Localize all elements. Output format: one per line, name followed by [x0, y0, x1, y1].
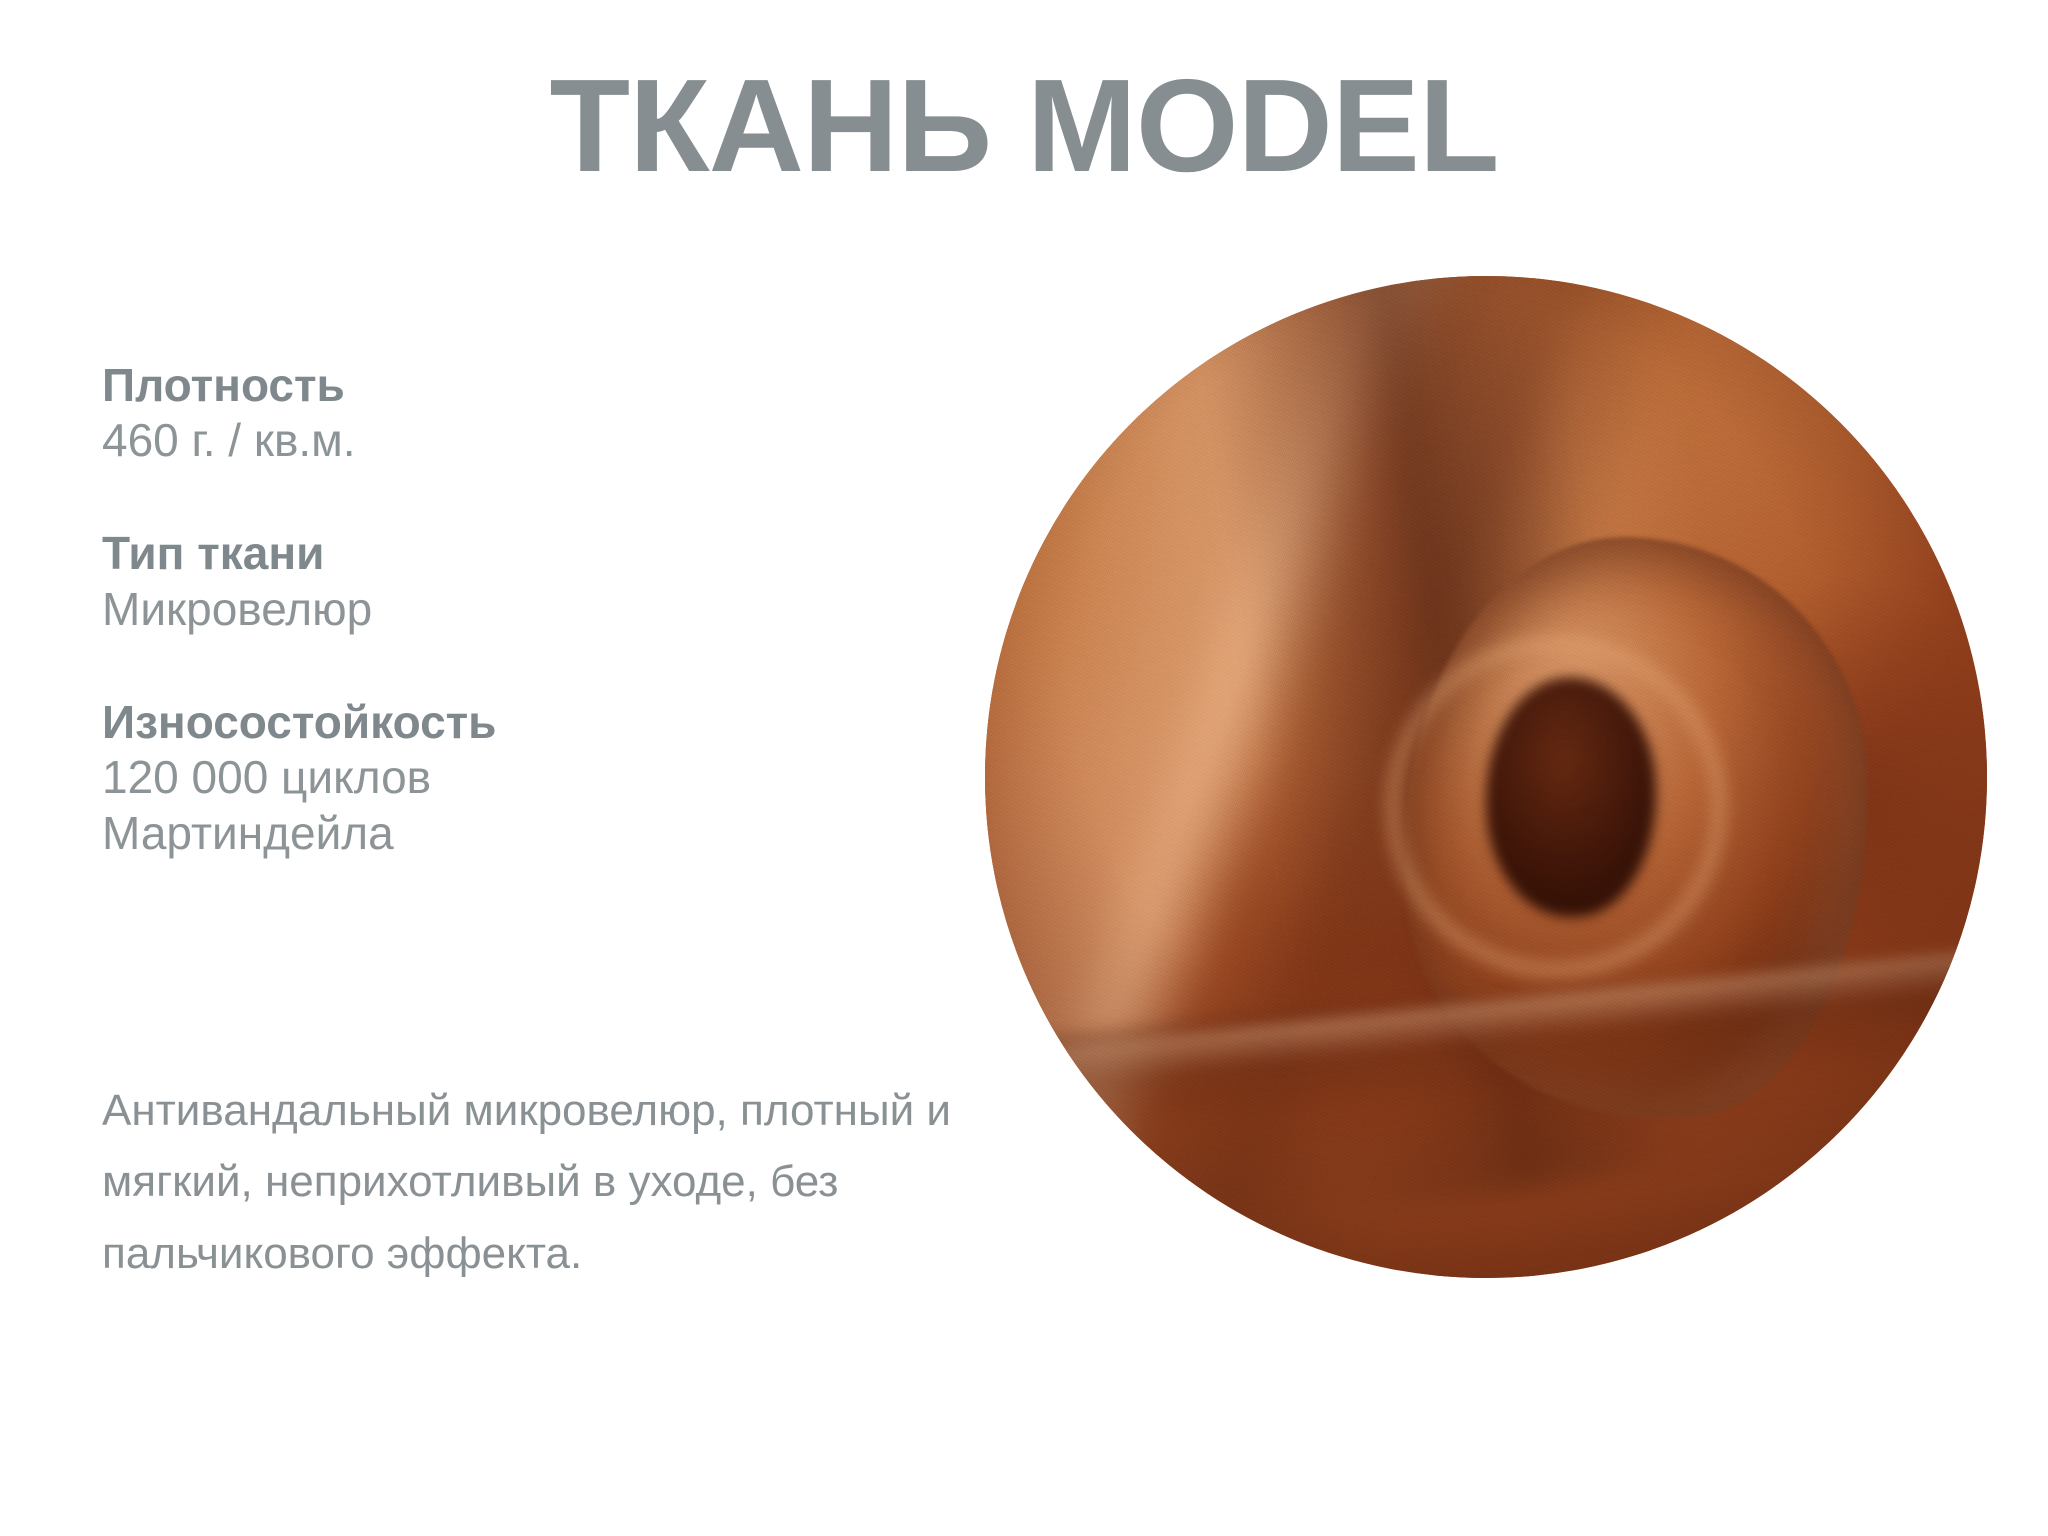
- fabric-spec-slide: ТКАНЬ MODEL Плотность 460 г. / кв.м. Тип…: [0, 0, 2048, 1536]
- spec-durability-value: 120 000 циклов Мартиндейла: [102, 749, 922, 861]
- spec-density-value: 460 г. / кв.м.: [102, 412, 922, 468]
- fabric-vignette: [985, 276, 1987, 1278]
- specs-list: Плотность 460 г. / кв.м. Тип ткани Микро…: [102, 358, 922, 861]
- spec-durability-label: Износостойкость: [102, 695, 922, 749]
- spec-fabric-type: Тип ткани Микровелюр: [102, 526, 922, 636]
- spec-durability: Износостойкость 120 000 циклов Мартиндей…: [102, 695, 922, 861]
- spec-density-label: Плотность: [102, 358, 922, 412]
- spec-fabric-type-value: Микровелюр: [102, 581, 922, 637]
- page-title: ТКАНЬ MODEL: [0, 52, 2048, 200]
- fabric-description: Антивандальный микровелюр, плотный и мяг…: [102, 1075, 1002, 1289]
- fabric-photo-circle: [985, 276, 1987, 1278]
- spec-fabric-type-label: Тип ткани: [102, 526, 922, 580]
- spec-density: Плотность 460 г. / кв.м.: [102, 358, 922, 468]
